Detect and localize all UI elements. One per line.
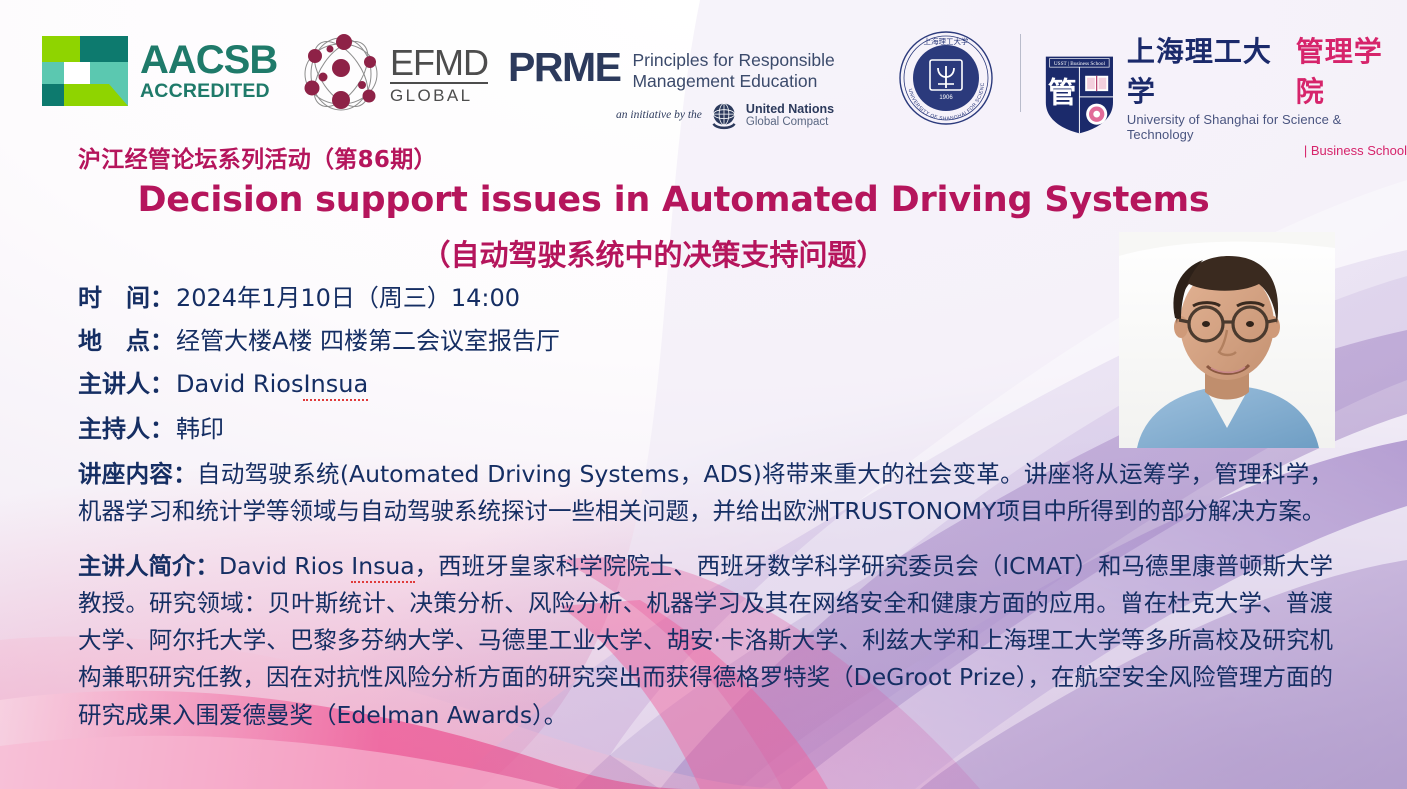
page-title: Decision support issues in Automated Dri…: [0, 180, 1407, 220]
svg-text:USST | Business School: USST | Business School: [1054, 61, 1106, 67]
aacsb-logo: AACSB ACCREDITED: [42, 36, 277, 106]
seminar-poster: AACSB ACCREDITED: [0, 0, 1407, 789]
bs-en-school: | Business School: [1127, 143, 1407, 158]
event-host-value: 韩印: [176, 409, 224, 444]
prme-logo: PRME Principles for Responsible Manageme…: [508, 48, 835, 130]
efmd-name: EFMD: [390, 45, 488, 84]
prme-wordmark: PRME: [508, 48, 620, 87]
prme-initiative-label: an initiative by the: [616, 109, 702, 121]
efmd-global-label: GLOBAL: [390, 87, 488, 104]
event-speaker-label: 主讲人：: [78, 364, 174, 399]
event-time-label: 时 间：: [78, 278, 174, 313]
event-location-label: 地 点：: [78, 321, 174, 356]
accreditation-logo-strip: AACSB ACCREDITED: [0, 0, 1407, 140]
speaker-bio-surname: Insua: [351, 552, 414, 583]
speaker-bio-label: 主讲人简介：: [78, 552, 219, 580]
event-host-label: 主持人：: [78, 409, 174, 444]
un-global-compact-globe-icon: [709, 100, 739, 130]
event-host: 主持人： 韩印: [78, 409, 1338, 444]
event-details-list: 时 间： 2024年1月10日（周三）14:00 地 点： 经管大楼A楼 四楼第…: [78, 278, 1338, 452]
bs-en-university: University of Shanghai for Science & Tec…: [1127, 112, 1407, 142]
event-time: 时 间： 2024年1月10日（周三）14:00: [78, 278, 1338, 313]
lecture-content-paragraph: 讲座内容：自动驾驶系统(Automated Driving Systems，AD…: [78, 456, 1333, 530]
svg-text:管: 管: [1048, 76, 1077, 110]
prme-tagline-line2: Management Education: [632, 71, 817, 91]
lecture-content-label: 讲座内容：: [78, 460, 197, 488]
svg-text:1906: 1906: [939, 95, 953, 101]
series-title: 沪江经管论坛系列活动（第86期）: [78, 140, 437, 174]
speaker-bio-paragraph: 主讲人简介：David Rios Insua，西班牙皇家科学院院士、西班牙数学科…: [78, 548, 1333, 734]
usst-business-school-logo: USST | Business School 管 上海理工大学 管理学院: [1042, 30, 1407, 158]
un-line1: United Nations: [746, 102, 834, 116]
efmd-network-icon: [300, 34, 382, 114]
svg-text:上海理工大学: 上海理工大学: [924, 36, 969, 46]
event-speaker-value: David Rios: [176, 370, 303, 398]
event-speaker-surname: Insua: [303, 370, 368, 401]
event-speaker: 主讲人： David Rios Insua: [78, 364, 1338, 401]
lecture-content-text: 自动驾驶系统(Automated Driving Systems，ADS)将带来…: [78, 460, 1333, 525]
event-time-value: 2024年1月10日（周三）14:00: [176, 278, 520, 313]
event-location: 地 点： 经管大楼A楼 四楼第二会议室报告厅: [78, 321, 1338, 356]
logo-divider: [1020, 34, 1021, 112]
prme-tagline: Principles for Responsible Management Ed…: [632, 48, 834, 91]
aacsb-name: AACSB: [140, 40, 277, 80]
aacsb-accredited-label: ACCREDITED: [140, 82, 277, 102]
usst-business-school-shield-icon: USST | Business School 管: [1042, 51, 1117, 137]
bs-cn-school: 管理学院: [1296, 30, 1407, 110]
aacsb-pinwheel-icon: [42, 36, 128, 106]
usst-university-crest-icon: 1906 上海理工大学 UNIVERSITY OF SHANGHAI FOR S…: [898, 30, 994, 131]
event-location-value: 经管大楼A楼 四楼第二会议室报告厅: [176, 321, 560, 356]
prme-tagline-line1: Principles for Responsible: [632, 50, 834, 70]
efmd-logo: EFMD GLOBAL: [300, 34, 488, 114]
bs-cn-university: 上海理工大学: [1127, 30, 1294, 110]
speaker-bio-name: David Rios: [219, 552, 351, 580]
un-line2: Global Compact: [746, 116, 834, 129]
